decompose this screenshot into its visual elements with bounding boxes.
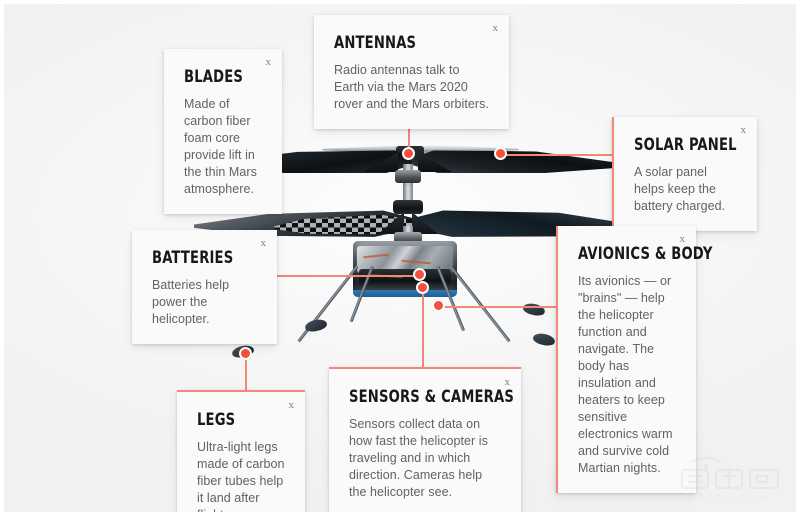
- close-icon[interactable]: x: [266, 57, 272, 68]
- leg-foot-inner-right: [522, 302, 546, 317]
- callout-card-antennas[interactable]: x ANTENNAS Radio antennas talk to Earth …: [314, 15, 509, 129]
- hotspot-legs[interactable]: [239, 347, 252, 360]
- leg-front-left: [297, 265, 358, 342]
- hotspot-sensors[interactable]: [416, 281, 429, 294]
- callout-body-avionics-body: Its avionics — or "brains" — help the he…: [578, 273, 676, 477]
- close-icon[interactable]: x: [493, 23, 499, 34]
- callout-card-solar-panel[interactable]: x SOLAR PANEL A solar panel helps keep t…: [612, 117, 757, 231]
- callout-title-solar-panel: SOLAR PANEL: [634, 135, 723, 155]
- hotspot-avionics[interactable]: [432, 299, 445, 312]
- hotspot-batteries[interactable]: [413, 268, 426, 281]
- callout-card-legs[interactable]: x LEGS Ultra-light legs made of carbon f…: [177, 390, 305, 516]
- infographic-canvas: x BLADES Made of carbon fiber foam core …: [0, 0, 800, 516]
- callout-body-batteries: Batteries help power the helicopter.: [152, 277, 257, 328]
- callout-body-blades: Made of carbon fiber foam core provide l…: [184, 96, 262, 198]
- callout-card-avionics-body[interactable]: x AVIONICS & BODY Its avionics — or "bra…: [556, 226, 696, 493]
- rotor-hub-middle: [393, 200, 423, 214]
- watermark-url: z h i d x . c o m: [678, 493, 782, 500]
- callout-title-blades: BLADES: [184, 67, 251, 87]
- close-icon[interactable]: x: [741, 125, 747, 136]
- callout-title-antennas: ANTENNAS: [334, 33, 467, 53]
- callout-title-avionics-body: AVIONICS & BODY: [578, 244, 662, 264]
- callout-body-legs: Ultra-light legs made of carbon fiber tu…: [197, 439, 285, 516]
- leg-foot-right: [532, 332, 556, 347]
- callout-title-sensors-cameras: SENSORS & CAMERAS: [349, 387, 480, 407]
- callout-card-batteries[interactable]: x BATTERIES Batteries help power the hel…: [132, 230, 277, 344]
- fuselage-lower-panel: [359, 269, 451, 289]
- callout-title-batteries: BATTERIES: [152, 248, 242, 268]
- leg-front-right: [449, 265, 510, 342]
- close-icon[interactable]: x: [289, 400, 295, 411]
- callout-card-blades[interactable]: x BLADES Made of carbon fiber foam core …: [164, 49, 282, 214]
- callout-title-legs: LEGS: [197, 410, 273, 430]
- leader-solar-panel: [501, 154, 612, 156]
- leader-avionics: [438, 306, 556, 308]
- callout-card-sensors-cameras[interactable]: x SENSORS & CAMERAS Sensors collect data…: [329, 367, 521, 516]
- callout-body-sensors-cameras: Sensors collect data on how fast the hel…: [349, 416, 501, 501]
- hotspot-antennas[interactable]: [402, 147, 415, 160]
- fuselage-blue-base: [353, 290, 457, 297]
- watermark: z h i d x . c o m: [678, 454, 782, 500]
- callout-body-antennas: Radio antennas talk to Earth via the Mar…: [334, 62, 489, 113]
- callout-body-solar-panel: A solar panel helps keep the battery cha…: [634, 164, 737, 215]
- leader-legs: [245, 360, 247, 390]
- zhidx-logo-icon: [678, 454, 782, 492]
- leg-foot-inner-left: [304, 318, 328, 333]
- close-icon[interactable]: x: [261, 238, 267, 249]
- leader-batteries: [277, 275, 419, 277]
- leader-sensors: [422, 294, 424, 367]
- hotspot-solar-panel[interactable]: [494, 147, 507, 160]
- swashplate-upper: [395, 170, 421, 183]
